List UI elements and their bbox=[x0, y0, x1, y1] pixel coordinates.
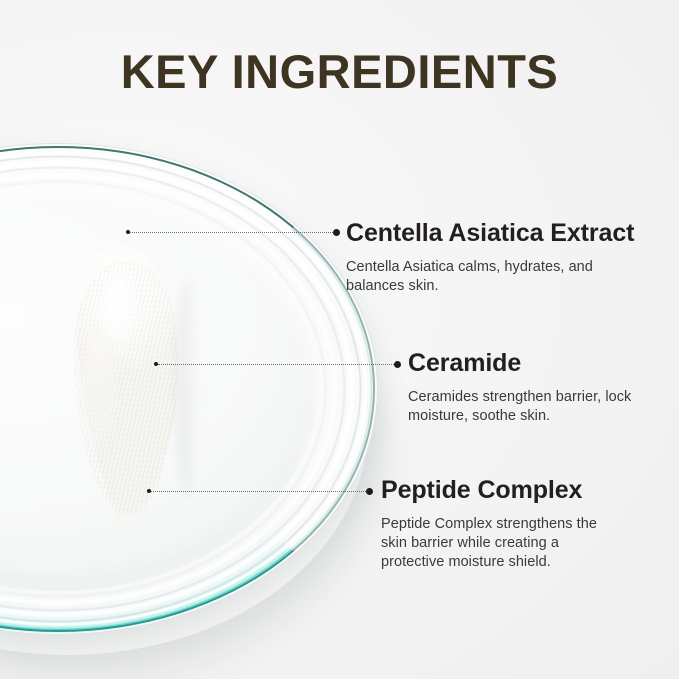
ingredient-name-centella: Centella Asiatica Extract bbox=[346, 219, 646, 248]
connector-anchor-dot-2 bbox=[154, 362, 158, 366]
ingredient-block-ceramide: Ceramide Ceramides strengthen barrier, l… bbox=[408, 349, 658, 426]
connector-anchor-dot-1 bbox=[126, 230, 130, 234]
ingredient-block-peptide: Peptide Complex Peptide Complex strength… bbox=[381, 476, 603, 572]
key-ingredients-infographic: KEY INGREDIENTS Centella Asiatica Extrac… bbox=[0, 0, 679, 679]
connector-line-2 bbox=[158, 364, 396, 366]
connector-anchor-dot-3 bbox=[147, 489, 151, 493]
connector-line-3 bbox=[151, 491, 368, 493]
ingredient-description-ceramide: Ceramides strengthen barrier, lock moist… bbox=[408, 388, 658, 426]
ingredient-description-centella: Centella Asiatica calms, hydrates, and b… bbox=[346, 258, 646, 296]
connector-line-1 bbox=[130, 232, 335, 234]
ingredient-name-peptide: Peptide Complex bbox=[381, 476, 603, 505]
ingredient-name-ceramide: Ceramide bbox=[408, 349, 658, 378]
ingredient-description-peptide: Peptide Complex strengthens the skin bar… bbox=[381, 515, 603, 572]
background-wash bbox=[0, 0, 679, 679]
page-title: KEY INGREDIENTS bbox=[0, 44, 679, 100]
bullet-dot-1 bbox=[333, 229, 340, 236]
bullet-dot-2 bbox=[394, 361, 401, 368]
bullet-dot-3 bbox=[366, 488, 373, 495]
ingredient-block-centella: Centella Asiatica Extract Centella Asiat… bbox=[346, 219, 646, 296]
